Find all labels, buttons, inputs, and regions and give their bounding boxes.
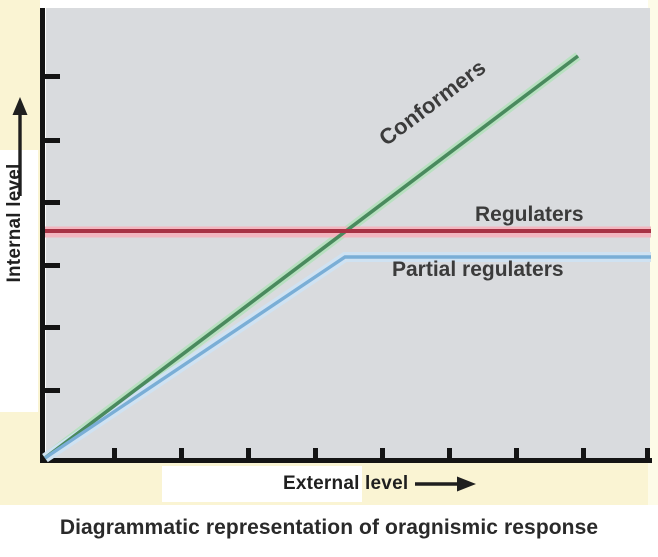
y-axis-tick: [45, 388, 60, 393]
x-axis-tick: [179, 448, 184, 460]
series-label-partial-regulaters: Partial regulaters: [392, 258, 564, 282]
x-axis-right-arrow-icon: [415, 474, 477, 494]
y-axis-tick: [45, 138, 60, 143]
x-axis-tick: [112, 448, 117, 460]
x-axis-tick: [514, 448, 519, 460]
x-axis-tick: [447, 448, 452, 460]
y-axis-title: Internal level: [4, 164, 25, 283]
x-axis-line: [40, 458, 652, 463]
y-axis-tick: [45, 263, 60, 268]
y-axis-tick: [45, 325, 60, 330]
x-axis-tick: [581, 448, 586, 460]
y-axis-tick: [45, 200, 60, 205]
x-axis-tick: [380, 448, 385, 460]
x-axis-title: External level: [283, 473, 408, 495]
series-label-regulaters: Regulaters: [475, 203, 584, 227]
x-axis-tick: [246, 448, 251, 460]
x-axis-tick: [313, 448, 318, 460]
y-axis-title-container: Internal level: [4, 123, 26, 323]
plot-area: [46, 8, 650, 458]
figure-container: Conformers Regulaters Partial regulaters…: [0, 0, 658, 557]
x-axis-title-container: External level: [283, 473, 477, 495]
x-axis-tick: [645, 448, 650, 460]
y-axis-tick: [45, 74, 60, 79]
figure-caption: Diagrammatic representation of oragnismi…: [0, 516, 658, 540]
